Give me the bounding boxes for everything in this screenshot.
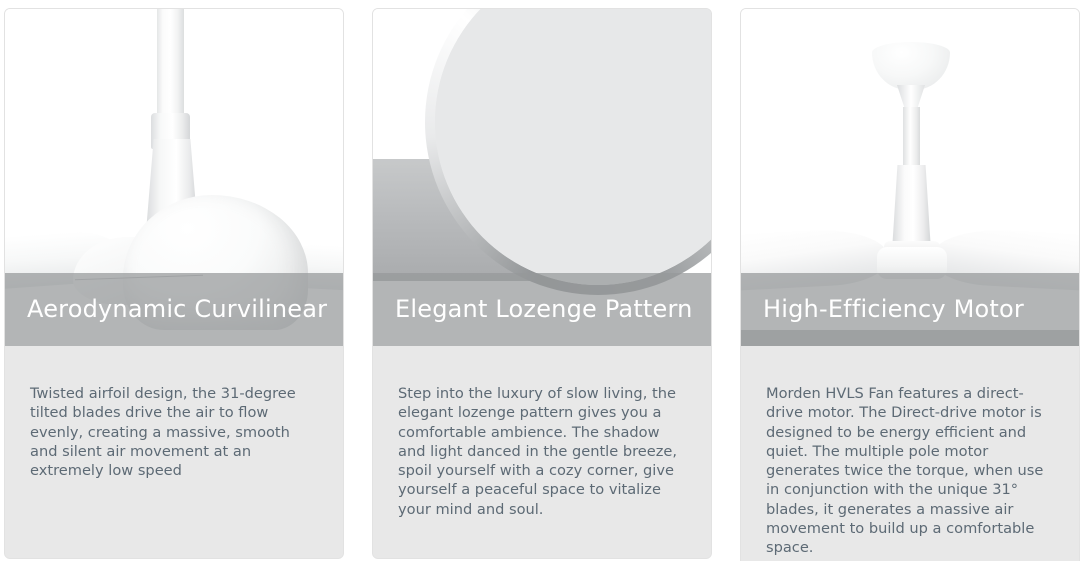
downrod-shape [903, 107, 920, 169]
motor-body-shape [892, 165, 931, 251]
card-description: Step into the luxury of slow living, the… [398, 384, 687, 519]
card-body: Step into the luxury of slow living, the… [373, 346, 711, 558]
card-media: Elegant Lozenge Pattern [373, 9, 711, 346]
card-description: Morden HVLS Fan features a direct-drive … [766, 384, 1055, 557]
card-title-band: Elegant Lozenge Pattern [373, 273, 711, 346]
card-media: Aerodynamic Curvilinear [5, 9, 343, 346]
faceted-dome-shape [435, 9, 711, 285]
card-title-band: Aerodynamic Curvilinear [5, 273, 343, 346]
card-title: Aerodynamic Curvilinear [27, 296, 327, 322]
card-title: High-Efficiency Motor [763, 296, 1024, 322]
feature-card-high-efficiency-motor[interactable]: High-Efficiency Motor Morden HVLS Fan fe… [740, 8, 1080, 561]
card-description: Twisted airfoil design, the 31-degree ti… [30, 384, 319, 480]
canopy-shape [872, 42, 950, 90]
feature-card-elegant-lozenge-pattern[interactable]: Elegant Lozenge Pattern Step into the lu… [372, 8, 712, 559]
card-media: High-Efficiency Motor [741, 9, 1079, 346]
card-title-band: High-Efficiency Motor [741, 273, 1079, 346]
feature-card-aerodynamic-curvilinear[interactable]: Aerodynamic Curvilinear Twisted airfoil … [4, 8, 344, 559]
downrod-shape [157, 9, 184, 124]
card-body: Morden HVLS Fan features a direct-drive … [741, 346, 1079, 561]
card-title: Elegant Lozenge Pattern [395, 296, 693, 322]
canopy-cone-shape [897, 85, 925, 109]
card-body: Twisted airfoil design, the 31-degree ti… [5, 346, 343, 558]
feature-card-grid: Aerodynamic Curvilinear Twisted airfoil … [0, 0, 1083, 561]
